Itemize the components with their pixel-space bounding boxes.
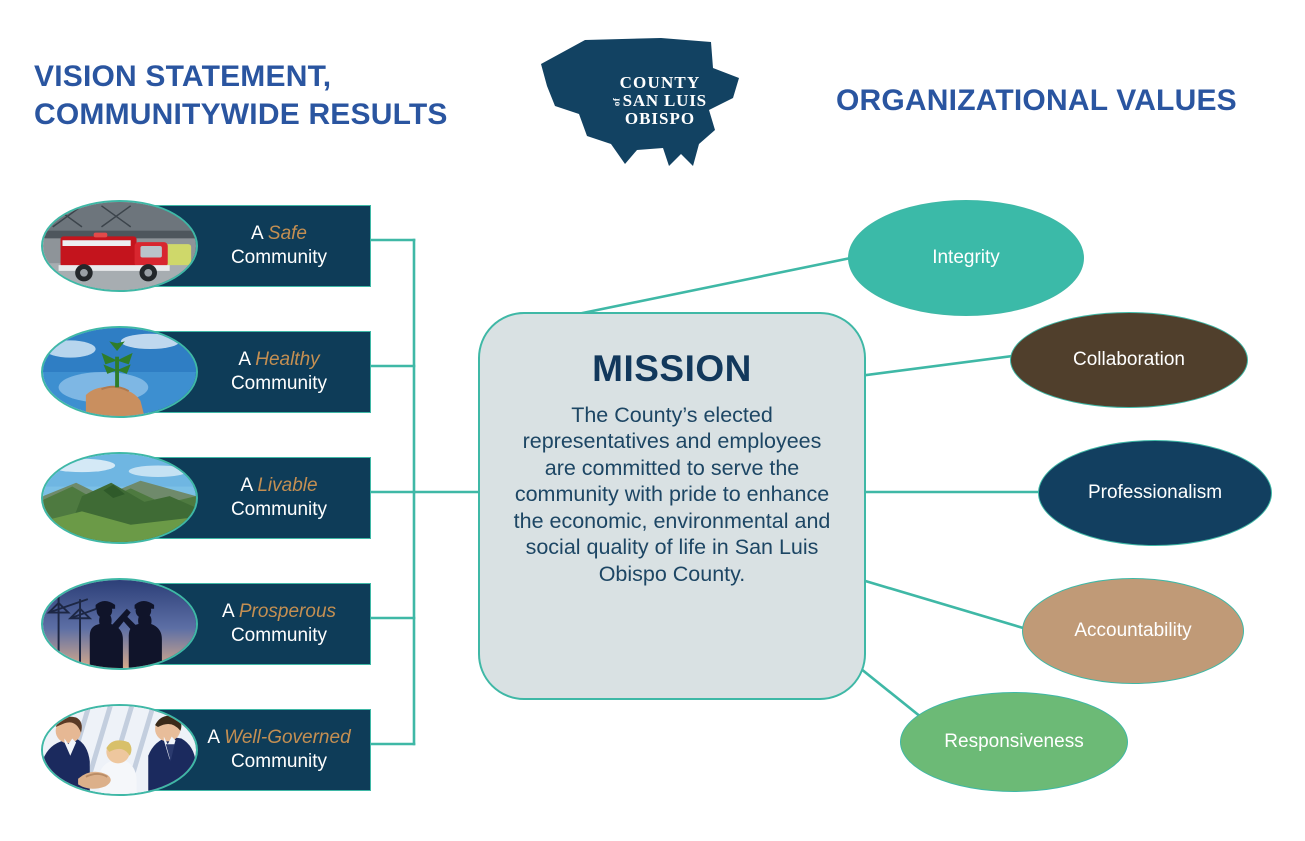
value-oval-collaboration[interactable]: Collaboration	[1010, 312, 1248, 408]
county-logo: COUNTY ofSAN LUIS OBISPO	[533, 26, 773, 176]
vision-adjective: Healthy	[255, 349, 319, 370]
value-label: Responsiveness	[944, 731, 1083, 753]
vision-prefix: A	[240, 475, 252, 496]
vision-thumbnail-seedling	[41, 326, 198, 418]
vision-statement-heading: VISION STATEMENT, COMMUNITYWIDE RESULTS	[34, 58, 448, 133]
value-label: Collaboration	[1073, 349, 1185, 371]
vision-prefix: A	[238, 349, 250, 370]
value-label: Accountability	[1074, 620, 1191, 642]
value-label: Professionalism	[1088, 482, 1222, 504]
vision-adjective: Livable	[257, 475, 317, 496]
vision-suffix: Community	[231, 247, 327, 268]
vision-item-livable[interactable]: A Livable Community	[41, 452, 371, 544]
seedling-in-hand-photo	[43, 328, 196, 416]
green-hills-photo	[43, 454, 196, 542]
business-handshake-photo	[43, 706, 196, 794]
vision-prefix: A	[222, 601, 234, 622]
vision-prefix: A	[251, 223, 263, 244]
vision-suffix: Community	[231, 373, 327, 394]
vision-prefix: A	[207, 727, 219, 748]
infographic-canvas: VISION STATEMENT, COMMUNITYWIDE RESULTS …	[0, 0, 1305, 841]
fire-truck-photo	[43, 202, 196, 290]
county-shape-icon	[533, 26, 773, 176]
organizational-values-heading: ORGANIZATIONAL VALUES	[836, 82, 1237, 120]
vision-thumbnail-fire-truck	[41, 200, 198, 292]
vision-adjective: Prosperous	[239, 601, 336, 622]
mission-body-text: The County’s elected representatives and…	[512, 402, 832, 587]
vision-suffix: Community	[231, 499, 327, 520]
vision-item-well-governed[interactable]: A Well-Governed Community	[41, 704, 371, 796]
vision-item-prosperous[interactable]: A Prosperous Community	[41, 578, 371, 670]
value-oval-responsiveness[interactable]: Responsiveness	[900, 692, 1128, 792]
mission-title: MISSION	[592, 348, 752, 390]
vision-item-healthy[interactable]: A Healthy Community	[41, 326, 371, 418]
vision-suffix: Community	[231, 625, 327, 646]
connector-accountability	[862, 580, 1030, 630]
vision-adjective: Well-Governed	[224, 727, 350, 748]
vision-suffix: Community	[231, 751, 327, 772]
value-label: Integrity	[932, 247, 1000, 269]
vision-thumbnail-construction	[41, 578, 198, 670]
value-oval-integrity[interactable]: Integrity	[848, 200, 1084, 316]
vision-adjective: Safe	[268, 223, 307, 244]
mission-box: MISSION The County’s elected representat…	[478, 312, 866, 700]
value-oval-professionalism[interactable]: Professionalism	[1038, 440, 1272, 546]
value-oval-accountability[interactable]: Accountability	[1022, 578, 1244, 684]
vision-thumbnail-hills	[41, 452, 198, 544]
construction-workers-photo	[43, 580, 196, 668]
vision-thumbnail-handshake	[41, 704, 198, 796]
vision-item-safe[interactable]: A Safe Community	[41, 200, 371, 292]
